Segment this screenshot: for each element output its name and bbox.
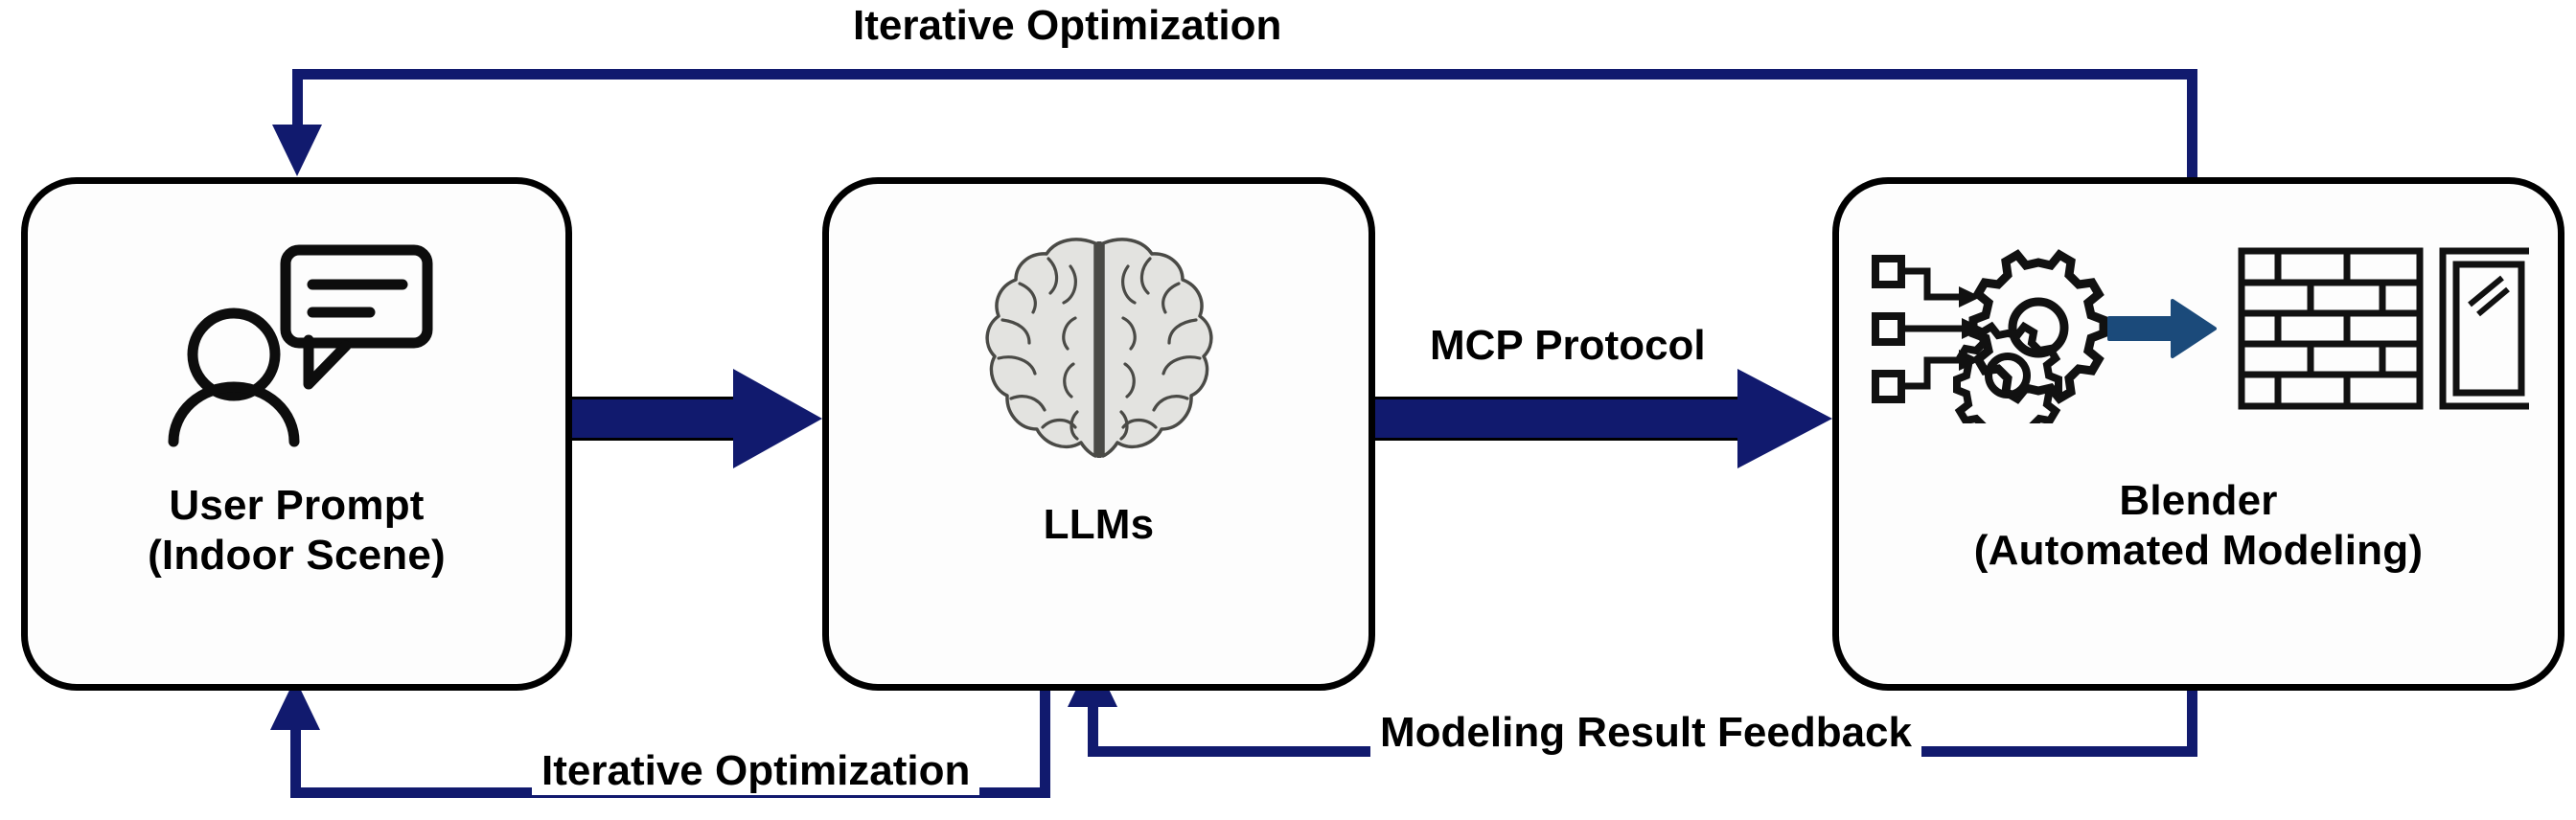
diagram-canvas: Iterative Optimization Modeling Result F… bbox=[0, 0, 2576, 820]
user-speech-bubble-icon bbox=[28, 230, 565, 460]
node-blender-label-line1: Blender bbox=[2119, 477, 2277, 524]
route-feedback-left-vertical bbox=[1088, 705, 1098, 747]
route-top-horizontal bbox=[292, 69, 2197, 80]
node-blender[interactable]: Blender(Automated Modeling) bbox=[1832, 177, 2564, 691]
route-iter-bottom-left-vertical bbox=[290, 728, 301, 788]
gears-to-wall-window-icon bbox=[1839, 232, 2558, 433]
route-iter-bottom-right-vertical bbox=[1040, 686, 1050, 793]
label-modeling-result-feedback: Modeling Result Feedback bbox=[1370, 709, 1921, 757]
node-llms-label: LLMs bbox=[829, 500, 1368, 550]
flow-arrow-user-to-llm-shaft bbox=[572, 397, 745, 441]
node-user-prompt[interactable]: User Prompt(Indoor Scene) bbox=[21, 177, 572, 691]
flow-arrow-user-to-llm-head-icon bbox=[733, 369, 822, 468]
route-top-arrowhead-icon bbox=[272, 125, 322, 176]
label-mcp-protocol: MCP Protocol bbox=[1430, 322, 1706, 370]
label-iterative-optimization-bottom: Iterative Optimization bbox=[532, 747, 979, 795]
node-user-prompt-label-line2: (Indoor Scene) bbox=[148, 532, 446, 579]
label-iterative-optimization-top: Iterative Optimization bbox=[843, 2, 1291, 50]
node-blender-label: Blender(Automated Modeling) bbox=[1839, 476, 2558, 576]
flow-arrow-llm-to-blender-head-icon bbox=[1737, 369, 1832, 468]
node-blender-label-line2: (Automated Modeling) bbox=[1974, 527, 2423, 574]
route-top-right-vertical bbox=[2187, 69, 2197, 182]
brain-icon bbox=[829, 222, 1368, 481]
node-llms[interactable]: LLMs bbox=[822, 177, 1375, 691]
route-top-left-vertical bbox=[292, 69, 303, 126]
flow-arrow-llm-to-blender bbox=[1375, 369, 1832, 468]
flow-arrow-user-to-llm bbox=[572, 369, 822, 468]
node-user-prompt-label-line1: User Prompt bbox=[169, 482, 424, 529]
node-user-prompt-label: User Prompt(Indoor Scene) bbox=[28, 481, 565, 581]
flow-arrow-llm-to-blender-shaft bbox=[1375, 397, 1749, 441]
